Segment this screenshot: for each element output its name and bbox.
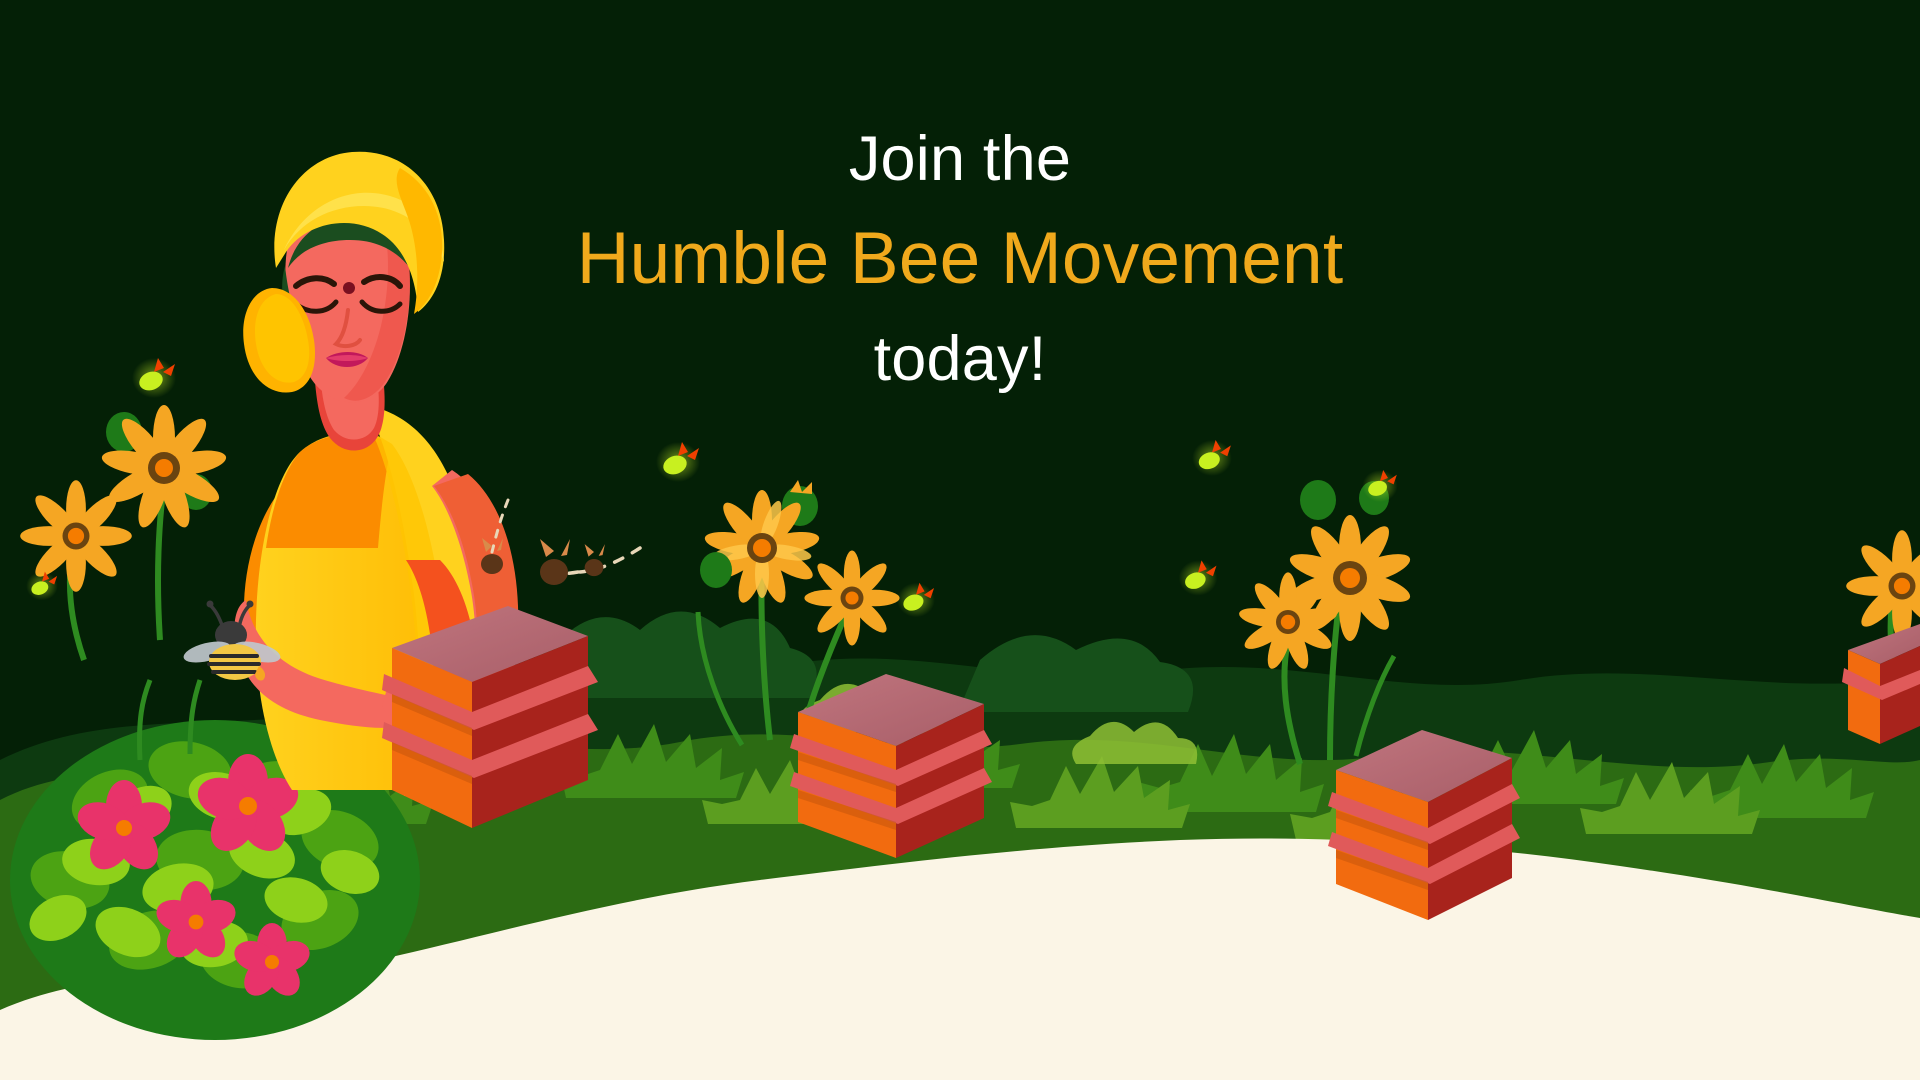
poster-canvas: Join the Humble Bee Movement today! (0, 0, 1920, 1080)
scene-illustration (0, 0, 1920, 1080)
scene-svg (0, 0, 1920, 1080)
